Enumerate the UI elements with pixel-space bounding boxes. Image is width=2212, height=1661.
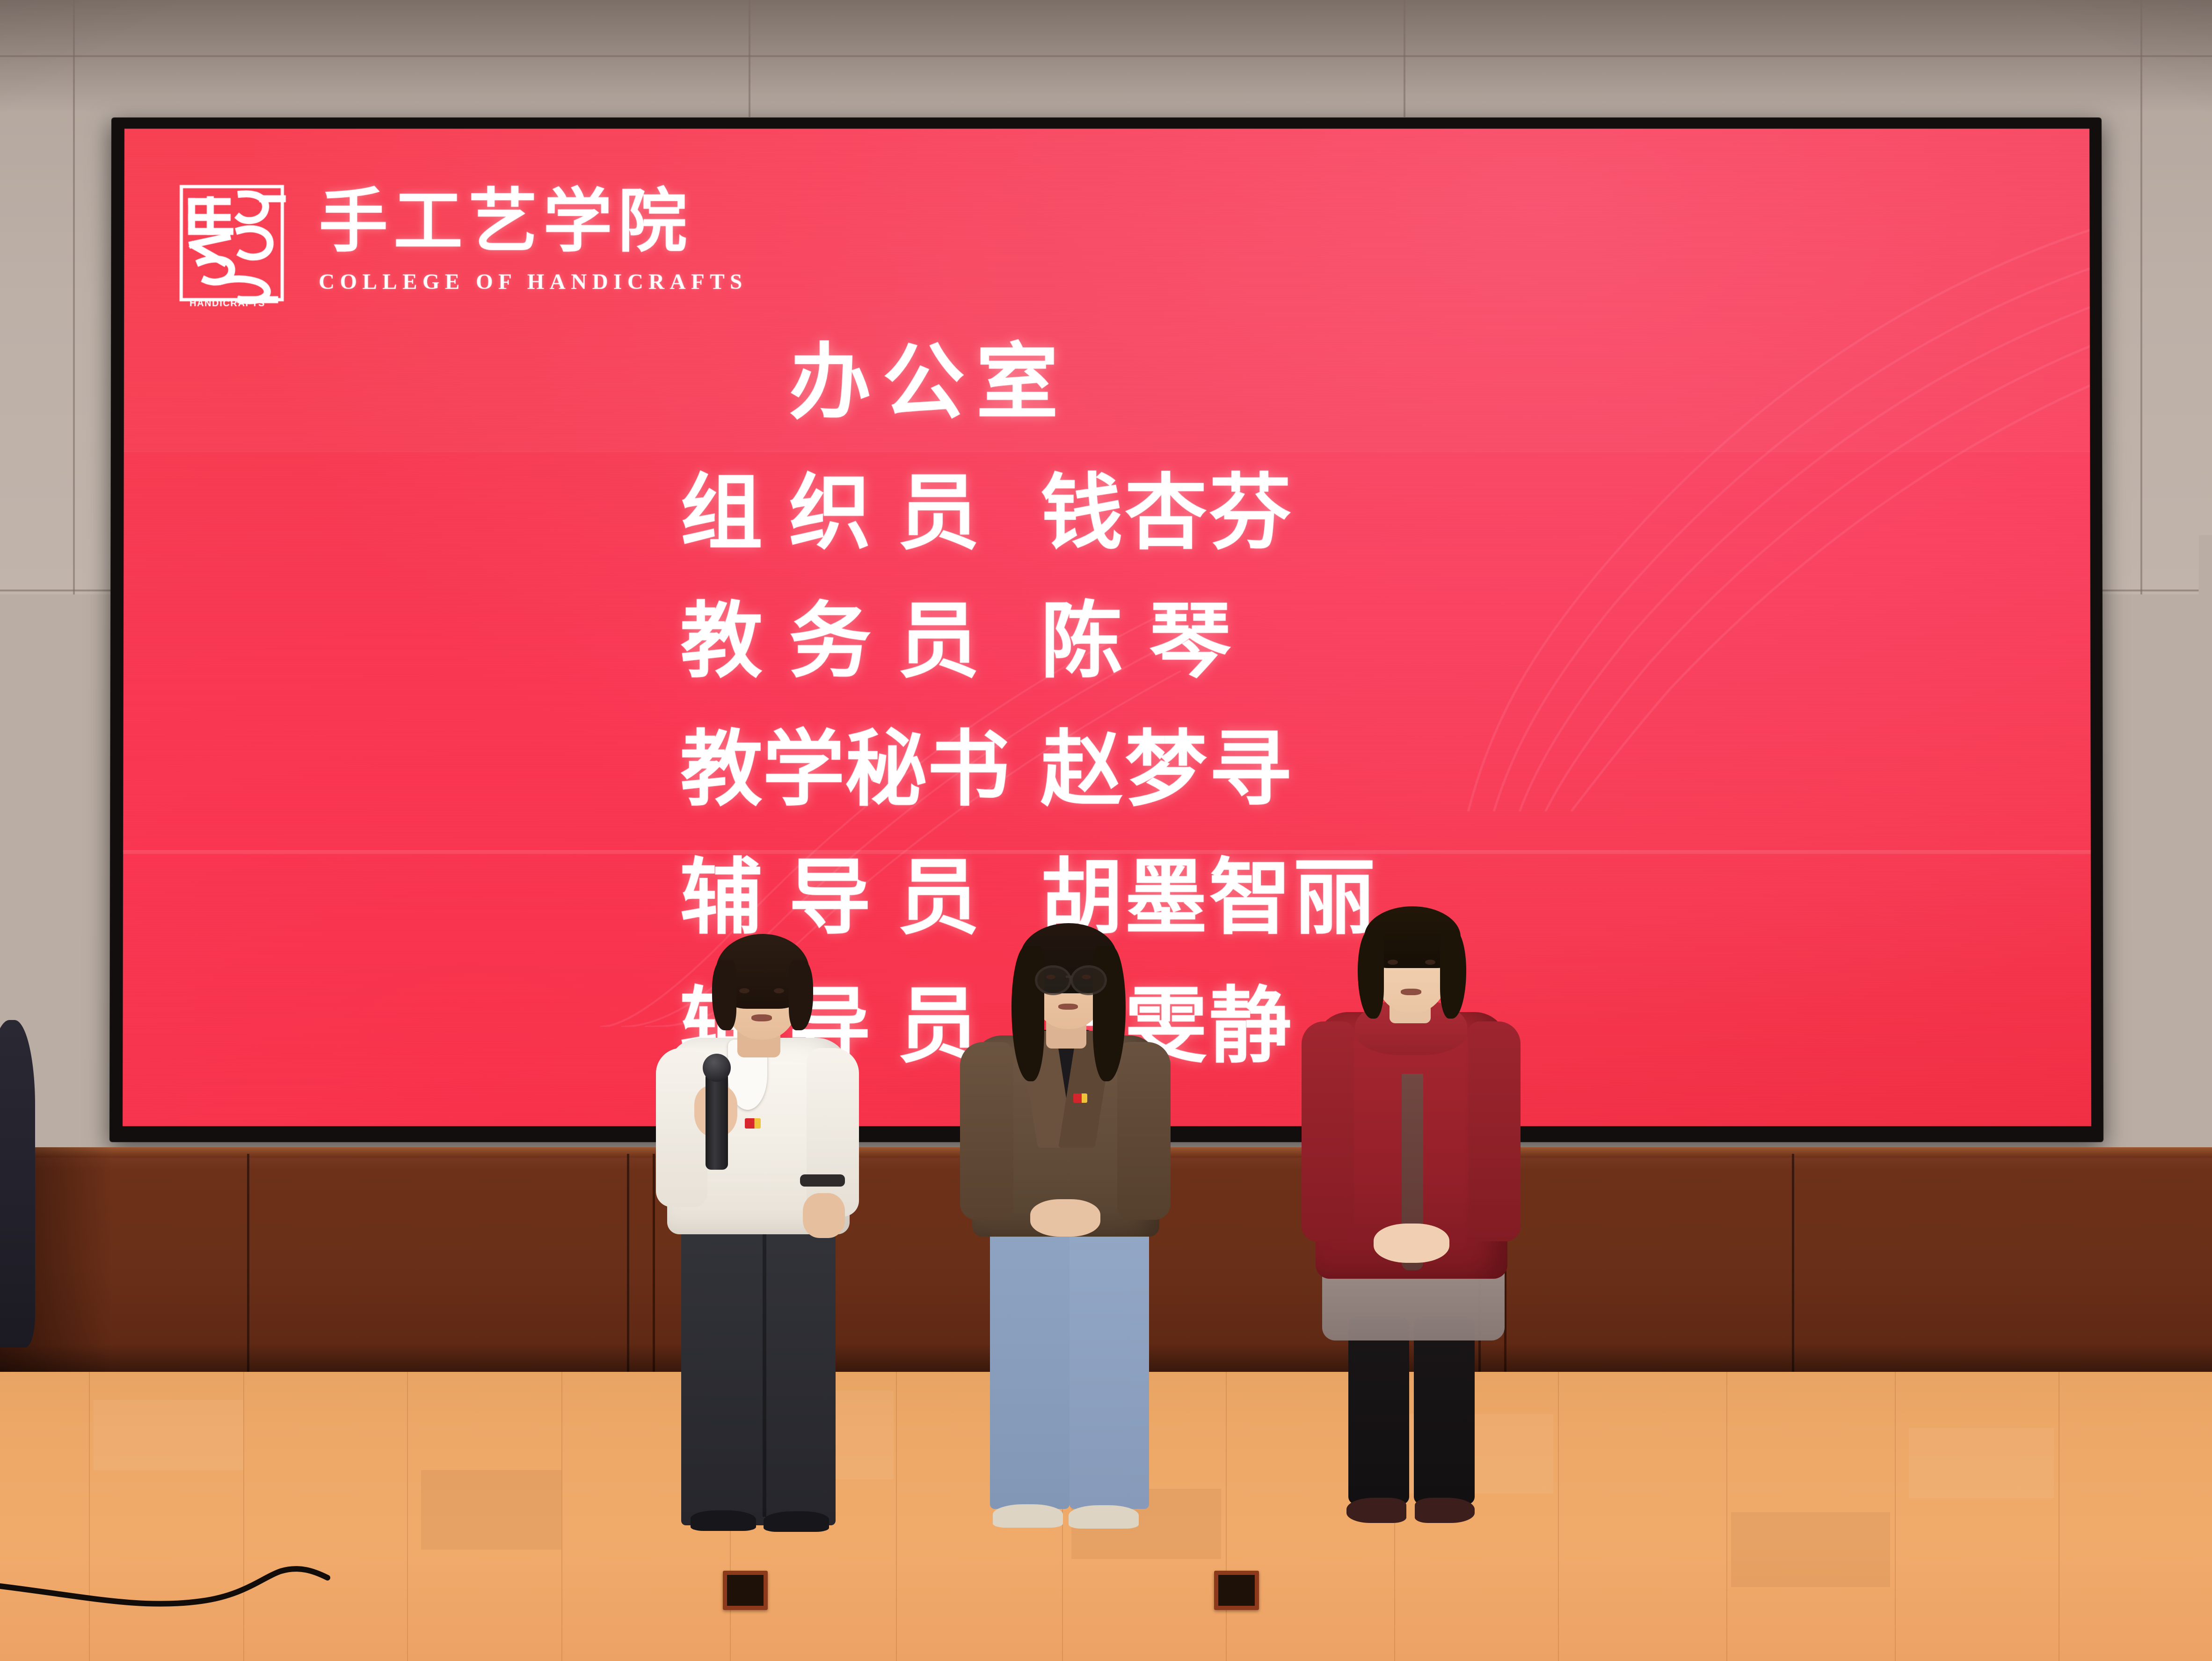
slide-title: 办公室 [124, 315, 2090, 435]
roster-name: 钱杏芬 [1041, 456, 1293, 573]
partial-person-left-edge [0, 1020, 35, 1348]
floor-cable-port[interactable] [723, 1571, 768, 1610]
glasses-lens-left [1035, 965, 1071, 995]
hair-side-left [1358, 930, 1384, 1019]
roster-role: 教学秘书 [680, 712, 1041, 829]
shoe [691, 1510, 756, 1531]
clasped-hands [1679, 1181, 1758, 1222]
sleeve-left [1605, 1020, 1660, 1208]
glasses-lens-right [1070, 965, 1107, 995]
microphone-head [703, 1054, 731, 1082]
sneaker-right [1069, 1505, 1139, 1529]
glasses-bridge [1714, 955, 1722, 957]
glasses-lens-left [1681, 946, 1719, 972]
eye-left [1388, 960, 1398, 965]
clasped-hands [1030, 1199, 1100, 1237]
trouser-crease [763, 1217, 766, 1517]
wristwatch [800, 1174, 845, 1187]
sleeve-right [1117, 1042, 1171, 1220]
sneaker-right [1722, 1492, 1797, 1518]
eye-right [1425, 960, 1435, 965]
roster-row: 组织员 钱杏芬 [680, 456, 2090, 573]
hair-side-left [712, 960, 736, 1030]
hair-side-right [1440, 930, 1466, 1019]
roster-row: 教学秘书 赵梦寻 [680, 712, 2091, 829]
roster-name: 陈琴 [1041, 584, 1258, 701]
college-logo: HANDICRAFTS 手工艺学院 COLLEGE OF HANDICRAFTS [171, 171, 748, 311]
roster-name: 赵梦寻 [1041, 712, 1293, 829]
roster-role: 教务员 [680, 584, 1041, 701]
mouth [751, 1014, 772, 1021]
wall-seam-vertical [73, 0, 75, 1146]
wall-seam-vertical [2140, 0, 2142, 1146]
wall-seam-vertical [749, 0, 750, 117]
tights-right [1414, 1317, 1475, 1504]
floor-cable-port[interactable] [1214, 1571, 1259, 1610]
hair-side-right [789, 960, 813, 1030]
college-name-en: COLLEGE OF HANDICRAFTS [319, 270, 748, 295]
party-emblem-badge [1073, 1093, 1087, 1103]
heeled-shoe-right [1415, 1498, 1475, 1523]
wall-seam-vertical [1404, 0, 1405, 117]
glasses-lens-right [1720, 946, 1757, 972]
eye-right [1732, 954, 1742, 959]
eye-right [1082, 975, 1091, 979]
hand-right [803, 1193, 845, 1238]
person-staff-in-striped-shirt [1595, 901, 1876, 1532]
trouser-right [1722, 1215, 1802, 1496]
mouth [1058, 1004, 1078, 1010]
tights-left [1348, 1317, 1409, 1504]
glasses-bridge [1066, 976, 1072, 978]
sleeve-right [1468, 1021, 1521, 1241]
sleeve-left [1302, 1021, 1354, 1241]
stage-riser-seam [247, 1154, 249, 1377]
person-staff-in-red-coat [1287, 905, 1567, 1532]
photo-scene: HANDICRAFTS 手工艺学院 COLLEGE OF HANDICRAFTS… [0, 0, 2212, 1661]
roster-row: 教务员 陈琴 [680, 584, 2090, 701]
clasped-hands [1374, 1224, 1449, 1263]
party-emblem-badge [1732, 1075, 1756, 1090]
eye-right [774, 988, 784, 993]
svg-text:HANDICRAFTS: HANDICRAFTS [189, 298, 265, 308]
mouth [1401, 989, 1421, 995]
eye-left [1046, 975, 1055, 979]
microphone-body [706, 1071, 728, 1170]
sneaker-left [993, 1504, 1063, 1528]
heeled-shoe-left [1346, 1498, 1406, 1523]
audio-cable [0, 1526, 758, 1615]
eye-left [1694, 954, 1704, 959]
mouth [1706, 985, 1728, 991]
sleeve-right [1767, 1020, 1822, 1208]
sneaker-left [1638, 1491, 1713, 1517]
college-logo-text: 手工艺学院 COLLEGE OF HANDICRAFTS [319, 187, 748, 295]
stage-riser-seam [627, 1154, 629, 1377]
trousers [681, 1217, 836, 1525]
sleeve-right [807, 1048, 859, 1217]
jeans-left [990, 1214, 1070, 1509]
person-speaker-with-microphone [646, 931, 936, 1535]
eye-left [739, 988, 749, 993]
college-name-cn: 手工艺学院 [319, 187, 748, 257]
wall-seam-horizontal [0, 55, 2212, 57]
sleeve-left [960, 1042, 1013, 1220]
party-emblem-badge [745, 1118, 761, 1129]
person-staff-in-brown-blazer [950, 919, 1230, 1537]
seal-script-logo-icon: HANDICRAFTS [171, 171, 292, 311]
jeans-right [1070, 1214, 1149, 1509]
trouser-left [1641, 1215, 1722, 1496]
hair-side-left [1666, 922, 1687, 978]
roster-role: 组织员 [680, 456, 1041, 573]
shoe [764, 1511, 829, 1532]
